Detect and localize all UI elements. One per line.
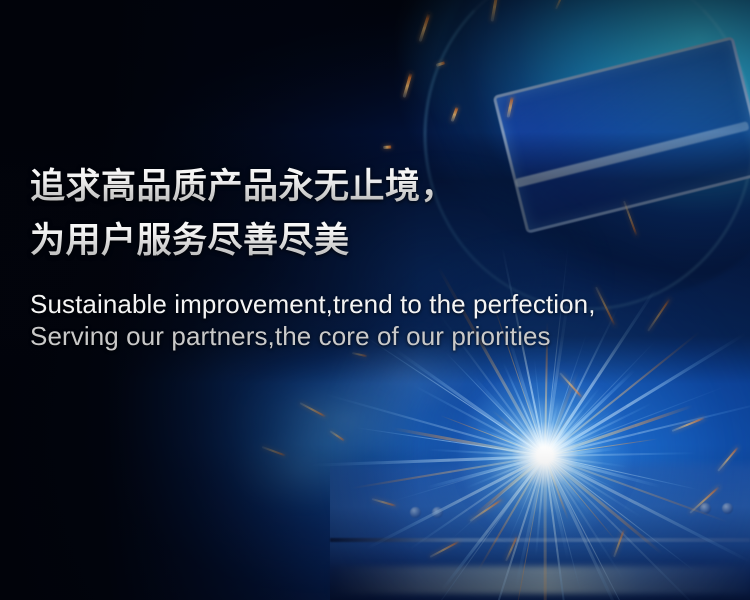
headline-line-2: 为用户服务尽善尽美 [30,214,596,268]
spark-streak [383,145,392,149]
slogan-banner: 追求高品质产品永无止境， 为用户服务尽善尽美 Sustainable impro… [0,0,750,600]
subheadline-line-1: Sustainable improvement,trend to the per… [30,288,596,320]
subheadline-line-2: Serving our partners,the core of our pri… [30,320,596,352]
spark-streak [419,13,431,42]
spark-streak [300,402,327,418]
spark-streak [403,72,413,98]
headline-line-1: 追求高品质产品永无止境， [30,160,596,214]
slogan-copy-block: 追求高品质产品永无止境， 为用户服务尽善尽美 Sustainable impro… [30,160,596,352]
spark-burst-core [450,360,640,550]
spark-streak [262,446,287,457]
